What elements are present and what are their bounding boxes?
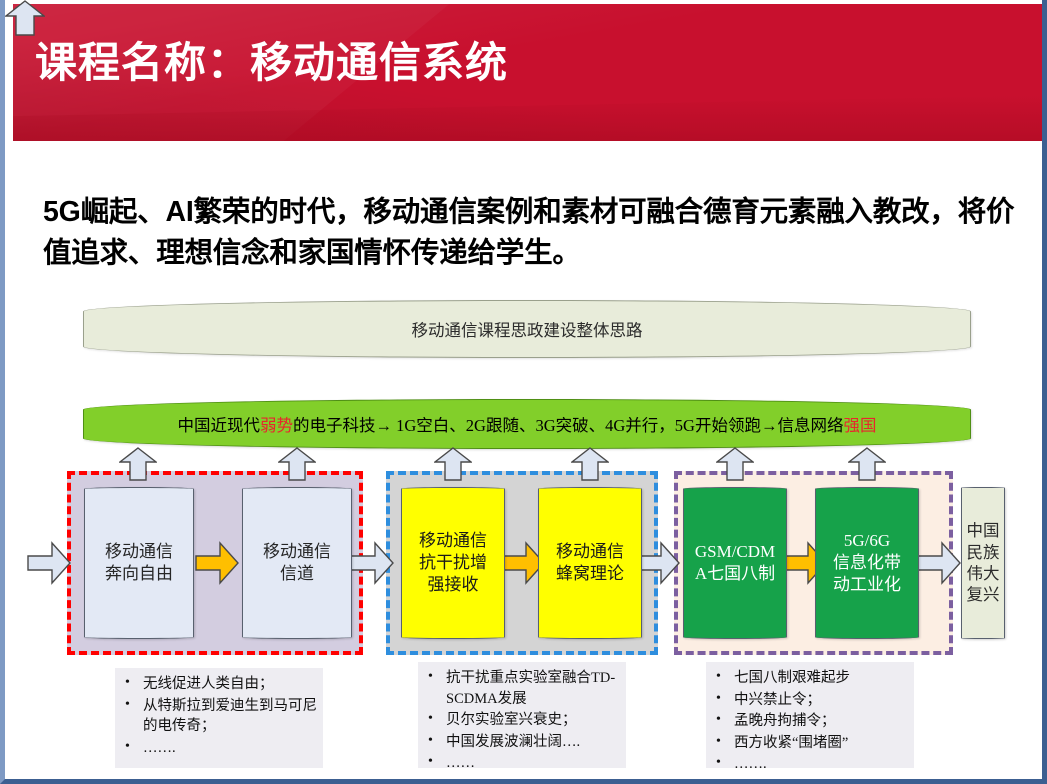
note-list: 抗干扰重点实验室融合TD-SCDMA发展 贝尔实验室兴衰史； 中国发展波澜壮阔……: [422, 668, 620, 774]
note-item: 中国发展波澜壮阔….: [422, 732, 620, 753]
stage-label: 中国民族伟大复兴: [967, 520, 1000, 606]
arrow-up-stage-3-icon: [434, 447, 472, 481]
slide-canvas: 课程名称：移动通信系统 5G崛起、AI繁荣的时代，移动通信案例和素材可融合德育元…: [0, 0, 1047, 784]
stage-box-gsm-cdma: GSM/CDMA七国八制: [683, 487, 787, 639]
arrow-right-group1-to-group2-icon: [350, 541, 394, 585]
stage-box-anti-interference: 移动通信抗干扰增强接收: [401, 487, 505, 639]
flow-diagram: 移动通信课程思政建设整体思路 中国近现代弱势的电子科技→ 1G空白、2G跟随、3…: [5, 0, 1047, 784]
stage-label: 移动通信抗干扰增强接收: [419, 530, 487, 596]
note-box-nation: 七国八制艰难起步 中兴禁止令； 孟晚舟拘捕令； 西方收紧“围堵圈” …….: [706, 662, 914, 768]
arrow-up-stage-5-icon: [716, 447, 754, 481]
note-item: …….: [710, 754, 908, 775]
timeline-highlight-weak: 弱势: [260, 416, 293, 435]
note-item: 孟晚舟拘捕令；: [710, 711, 908, 732]
note-item: 中兴禁止令；: [710, 690, 908, 711]
arrow-right-entry-icon: [27, 541, 71, 585]
arrow-up-stage-4-icon: [571, 447, 609, 481]
arrow-right-group2-to-group3-icon: [636, 541, 680, 585]
timeline-text: 中国近现代弱势的电子科技→ 1G空白、2G跟随、3G突破、4G并行，5G开始领跑…: [178, 412, 877, 436]
note-item: 无线促进人类自由；: [119, 674, 317, 695]
timeline-bar: 中国近现代弱势的电子科技→ 1G空白、2G跟随、3G突破、4G并行，5G开始领跑…: [83, 399, 971, 449]
note-list: 无线促进人类自由； 从特斯拉到爱迪生到马可尼的电传奇； …….: [119, 674, 317, 758]
note-box-technology: 抗干扰重点实验室融合TD-SCDMA发展 贝尔实验室兴衰史； 中国发展波澜壮阔……: [418, 662, 626, 768]
overall-idea-box: 移动通信课程思政建设整体思路: [83, 300, 971, 358]
stage-label: 5G/6G信息化带动工业化: [833, 530, 901, 596]
stage-box-mobile-channel: 移动通信信道: [242, 487, 352, 639]
stage-box-mobile-freedom: 移动通信奔向自由: [84, 487, 194, 639]
note-box-freedom: 无线促进人类自由； 从特斯拉到爱迪生到马可尼的电传奇； …….: [115, 668, 323, 768]
note-item: …….: [119, 738, 317, 759]
stage-label: 移动通信信道: [263, 541, 331, 585]
arrow-right-to-rejuvenation-icon: [917, 541, 961, 585]
arrow-right-stage1-to-stage2-icon: [195, 541, 239, 585]
arrow-up-to-idea-icon: [5, 0, 45, 36]
arrow-up-stage-2-icon: [278, 447, 316, 481]
timeline-highlight-strong: 强国: [843, 416, 876, 435]
stage-label: 移动通信奔向自由: [105, 541, 173, 585]
note-list: 七国八制艰难起步 中兴禁止令； 孟晚舟拘捕令； 西方收紧“围堵圈” …….: [710, 668, 908, 775]
note-item: 西方收紧“围堵圈”: [710, 733, 908, 754]
note-item: 七国八制艰难起步: [710, 668, 908, 689]
arrow-up-stage-6-icon: [848, 447, 886, 481]
note-item: ……: [422, 753, 620, 774]
note-item: 贝尔实验室兴衰史；: [422, 710, 620, 731]
stage-box-rejuvenation: 中国民族伟大复兴: [961, 487, 1005, 639]
overall-idea-label: 移动通信课程思政建设整体思路: [412, 317, 643, 341]
stage-box-5g-6g: 5G/6G信息化带动工业化: [815, 487, 919, 639]
arrow-up-stage-1-icon: [119, 447, 157, 481]
stage-label: GSM/CDMA七国八制: [695, 541, 775, 585]
note-item: 从特斯拉到爱迪生到马可尼的电传奇；: [119, 696, 317, 737]
stage-box-cellular-theory: 移动通信蜂窝理论: [538, 487, 642, 639]
stage-label: 移动通信蜂窝理论: [556, 541, 624, 585]
note-item: 抗干扰重点实验室融合TD-SCDMA发展: [422, 668, 620, 709]
